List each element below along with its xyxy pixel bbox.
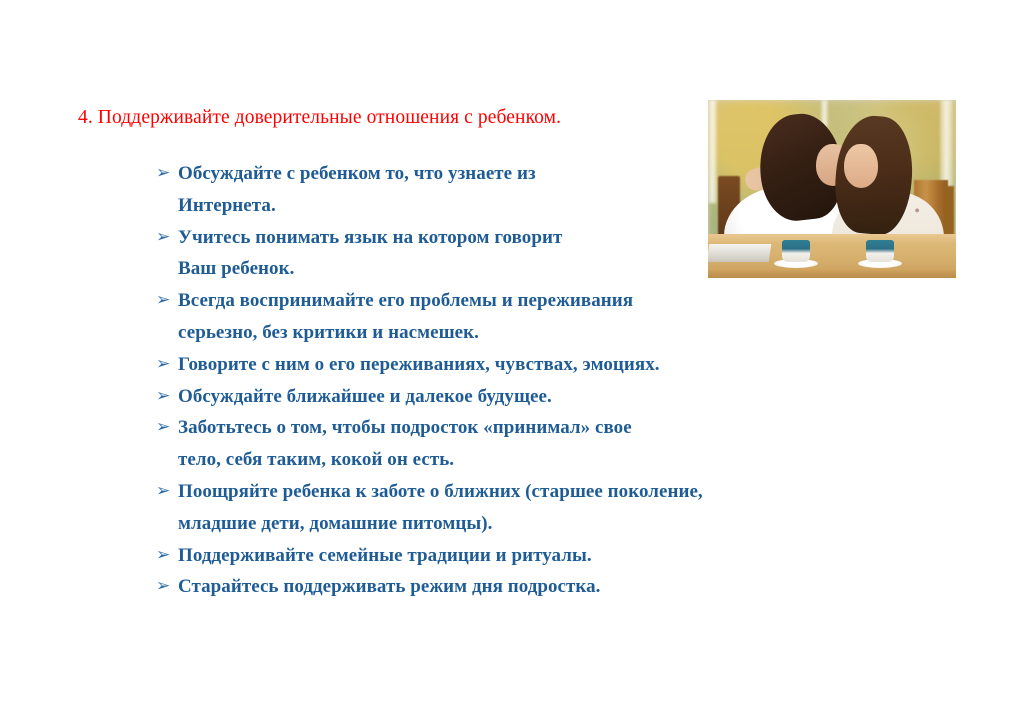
list-item-text: Учитесь понимать язык на котором говорит… <box>178 222 836 286</box>
list-item-line: Всегда воспринимайте его проблемы и пере… <box>178 290 633 311</box>
list-item-text: Заботьтесь о том, чтобы подросток «прини… <box>178 412 836 476</box>
list-item: ➢ Учитесь понимать язык на котором говор… <box>156 222 836 286</box>
list-item-line: Интернета. <box>178 190 836 222</box>
list-item-line: серьезно, без критики и насмешек. <box>178 317 836 349</box>
arrowhead-bullet-icon: ➢ <box>156 349 174 381</box>
arrowhead-bullet-icon: ➢ <box>156 412 174 444</box>
slide-canvas: 4. Поддерживайте доверительные отношения… <box>0 0 1024 724</box>
list-item-line: Старайтесь поддерживать режим дня подрос… <box>178 576 600 597</box>
list-item-line: Учитесь понимать язык на котором говорит <box>178 227 562 248</box>
list-item-line: Поддерживайте семейные традиции и ритуал… <box>178 545 592 566</box>
list-item-line: младшие дети, домашние питомцы). <box>178 508 836 540</box>
coffee-cup <box>866 240 894 262</box>
list-item: ➢ Обсуждайте с ребенком то, что узнаете … <box>156 158 836 222</box>
list-item-text: Поощряйте ребенка к заботе о ближних (ст… <box>178 476 836 540</box>
arrowhead-bullet-icon: ➢ <box>156 222 174 254</box>
arrowhead-bullet-icon: ➢ <box>156 571 174 603</box>
list-item-line: Обсуждайте с ребенком то, что узнаете из <box>178 163 536 184</box>
list-item-text: Старайтесь поддерживать режим дня подрос… <box>178 571 836 603</box>
recommendation-list: ➢ Обсуждайте с ребенком то, что узнаете … <box>156 158 836 603</box>
list-item: ➢ Всегда воспринимайте его проблемы и пе… <box>156 285 836 349</box>
list-item-text: Обсуждайте ближайшее и далекое будущее. <box>178 381 836 413</box>
daughter-face <box>844 144 878 188</box>
list-item-line: тело, себя таким, кокой он есть. <box>178 444 836 476</box>
list-item-line: Заботьтесь о том, чтобы подросток «прини… <box>178 417 632 438</box>
list-item-line: Говорите с ним о его переживаниях, чувст… <box>178 354 660 375</box>
arrowhead-bullet-icon: ➢ <box>156 540 174 572</box>
list-item-text: Обсуждайте с ребенком то, что узнаете из… <box>178 158 836 222</box>
list-item: ➢ Говорите с ним о его переживаниях, чув… <box>156 349 836 381</box>
list-item: ➢ Поощряйте ребенка к заботе о ближних (… <box>156 476 836 540</box>
list-item-line: Ваш ребенок. <box>178 253 836 285</box>
arrowhead-bullet-icon: ➢ <box>156 381 174 413</box>
arrowhead-bullet-icon: ➢ <box>156 285 174 317</box>
list-item-text: Поддерживайте семейные традиции и ритуал… <box>178 540 836 572</box>
list-item-line: Обсуждайте ближайшее и далекое будущее. <box>178 386 552 407</box>
list-item: ➢ Старайтесь поддерживать режим дня подр… <box>156 571 836 603</box>
arrowhead-bullet-icon: ➢ <box>156 476 174 508</box>
list-item: ➢ Обсуждайте ближайшее и далекое будущее… <box>156 381 836 413</box>
arrowhead-bullet-icon: ➢ <box>156 158 174 190</box>
list-item: ➢ Поддерживайте семейные традиции и риту… <box>156 540 836 572</box>
list-item: ➢ Заботьтесь о том, чтобы подросток «при… <box>156 412 836 476</box>
list-item-line: Поощряйте ребенка к заботе о ближних (ст… <box>178 481 703 502</box>
slide-title: 4. Поддерживайте доверительные отношения… <box>78 106 698 130</box>
list-item-text: Говорите с ним о его переживаниях, чувст… <box>178 349 836 381</box>
list-item-text: Всегда воспринимайте его проблемы и пере… <box>178 285 836 349</box>
